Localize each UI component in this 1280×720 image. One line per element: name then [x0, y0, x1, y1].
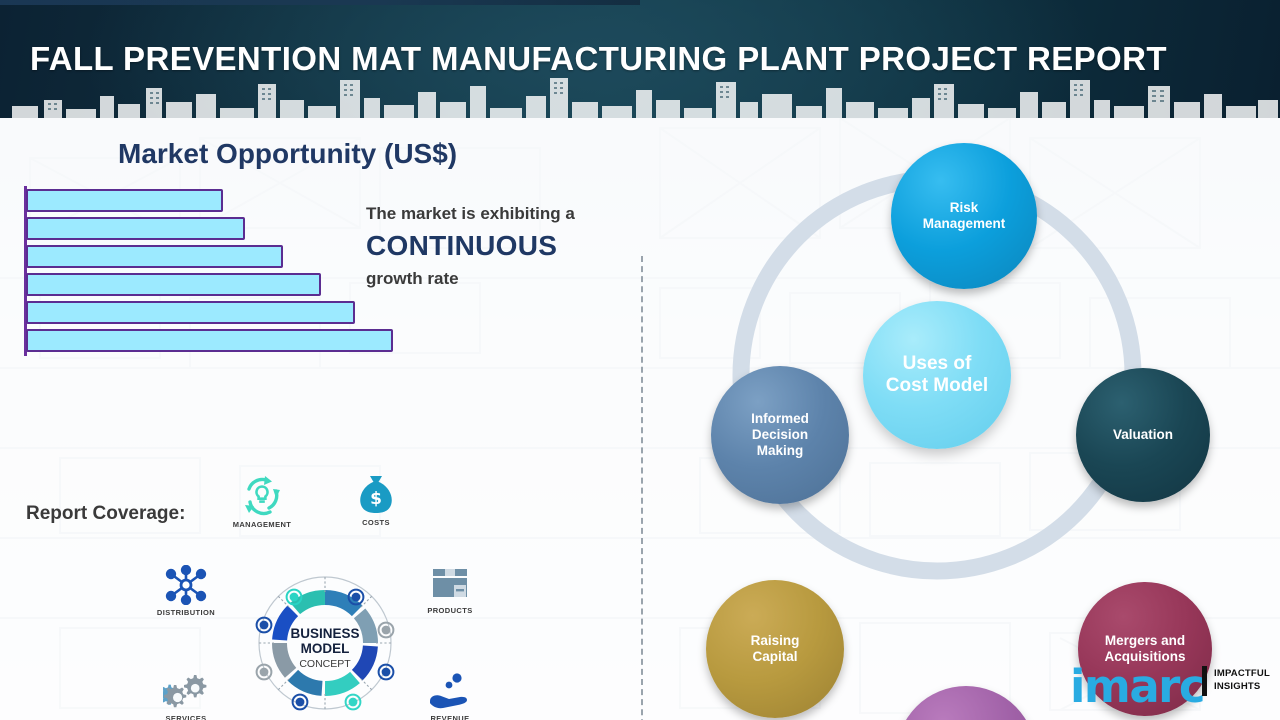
box-package-icon — [429, 565, 471, 603]
logo-tagline-line2: INSIGHTS — [1214, 681, 1260, 692]
logo-tagline-line1: IMPACTFUL — [1214, 668, 1270, 679]
node-raising-capital[interactable]: Raising Capital — [706, 580, 844, 718]
coverage-item-services: SERVICES — [138, 671, 234, 720]
node-line-1: Mergers and — [1098, 633, 1191, 649]
growth-statement: The market is exhibiting a CONTINUOUS gr… — [366, 203, 634, 291]
node-center-uses-of-cost-model: Uses of Cost Model — [863, 301, 1011, 449]
coverage-item-distribution: DISTRIBUTION — [138, 565, 234, 617]
business-model-title-line1: BUSINESS — [290, 626, 359, 641]
node-informed-decision-making[interactable]: Informed Decision Making — [711, 366, 849, 504]
uses-of-cost-model-diagram: Informed Decision Making Risk Management… — [641, 118, 1280, 720]
chart-bar — [26, 217, 245, 240]
market-opportunity-bar-chart — [24, 186, 404, 356]
coverage-label: SERVICES — [138, 714, 234, 720]
business-model-subtitle: CONCEPT — [299, 658, 351, 670]
coverage-label: COSTS — [328, 518, 424, 527]
growth-line-highlight: CONTINUOUS — [366, 225, 634, 267]
chart-bar — [26, 245, 283, 268]
center-line-1: Uses of — [880, 353, 994, 375]
gears-icon — [163, 671, 209, 711]
node-line-1: Valuation — [1107, 427, 1179, 443]
chart-bar — [26, 301, 355, 324]
business-model-title-line2: MODEL — [301, 641, 350, 656]
logo-wordmark: imarc — [1070, 660, 1204, 713]
node-line-3: Making — [745, 443, 815, 459]
header-top-strip — [0, 0, 640, 5]
coverage-label: REVENUE — [402, 714, 498, 720]
coverage-item-revenue: REVENUE — [402, 671, 498, 720]
svg-text:$: $ — [370, 489, 382, 509]
coverage-label: DISTRIBUTION — [138, 608, 234, 617]
money-bag-icon: $ — [356, 473, 396, 515]
coverage-item-management: MANAGEMENT — [214, 473, 310, 529]
node-line-1: Raising — [745, 633, 806, 649]
hand-coins-icon — [427, 671, 473, 711]
coverage-item-costs: $ COSTS — [328, 473, 424, 527]
coverage-item-products: PRODUCTS — [402, 565, 498, 615]
center-line-2: Cost Model — [880, 375, 994, 397]
business-model-donut: BUSINESS MODEL CONCEPT — [250, 568, 400, 718]
growth-line-3: growth rate — [366, 267, 634, 291]
node-line-1: Risk — [917, 200, 1012, 216]
node-valuation[interactable]: Valuation — [1076, 368, 1210, 502]
coverage-label: PRODUCTS — [402, 606, 498, 615]
chart-bar — [26, 273, 321, 296]
node-risk-management[interactable]: Risk Management — [891, 143, 1037, 289]
page-title: FALL PREVENTION MAT MANUFACTURING PLANT … — [30, 40, 1167, 78]
node-line-2: Management — [917, 216, 1012, 232]
imarc-logo[interactable]: imarc IMPACTFUL INSIGHTS — [1070, 662, 1260, 710]
growth-line-1: The market is exhibiting a — [366, 203, 634, 225]
city-skyline-graphic — [0, 72, 1280, 118]
coverage-label: MANAGEMENT — [214, 520, 310, 529]
chart-bar — [26, 329, 393, 352]
node-line-2: Decision — [745, 427, 815, 443]
chart-bar — [26, 189, 223, 212]
node-line-1: Informed — [745, 411, 815, 427]
left-panel: Market Opportunity (US$) The market is e… — [0, 118, 641, 720]
slide-body: Market Opportunity (US$) The market is e… — [0, 118, 1280, 720]
market-opportunity-title: Market Opportunity (US$) — [118, 138, 457, 170]
page-header: FALL PREVENTION MAT MANUFACTURING PLANT … — [0, 0, 1280, 118]
lightbulb-cycle-icon — [240, 473, 284, 517]
node-line-2: Capital — [745, 649, 806, 665]
business-model-cluster: MANAGEMENT $ COSTS — [130, 473, 520, 720]
network-nodes-icon — [162, 565, 210, 605]
logo-divider-bar — [1202, 666, 1207, 696]
